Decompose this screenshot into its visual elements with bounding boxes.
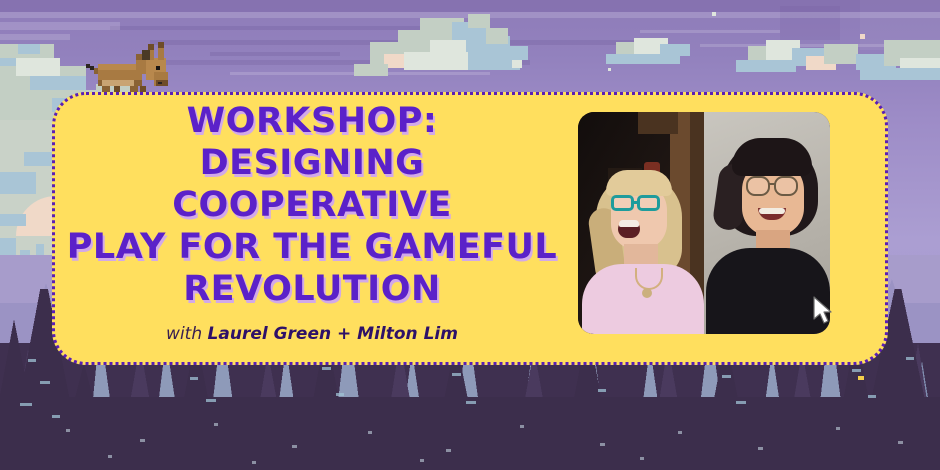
poster-canvas: WORKSHOP: DESIGNING COOPERATIVE PLAY FOR…: [0, 0, 940, 470]
headshot-left: [578, 112, 704, 334]
presenters-photo: [578, 112, 830, 334]
presenters-names: Laurel Green + Milton Lim: [208, 324, 458, 344]
title-line-2: DESIGNING COOPERATIVE: [62, 142, 562, 226]
page-title: WORKSHOP: DESIGNING COOPERATIVE PLAY FOR…: [62, 100, 562, 310]
presenters-prefix: with: [166, 324, 202, 344]
title-line-4: REVOLUTION: [62, 268, 562, 310]
lit-window: [858, 376, 864, 380]
presenters-line: with Laurel Green + Milton Lim: [62, 324, 562, 344]
title-block: WORKSHOP: DESIGNING COOPERATIVE PLAY FOR…: [62, 100, 562, 344]
mouse-pointer-icon: [812, 296, 834, 326]
title-line-1: WORKSHOP:: [62, 100, 562, 142]
title-line-3: PLAY FOR THE GAMEFUL: [62, 226, 562, 268]
